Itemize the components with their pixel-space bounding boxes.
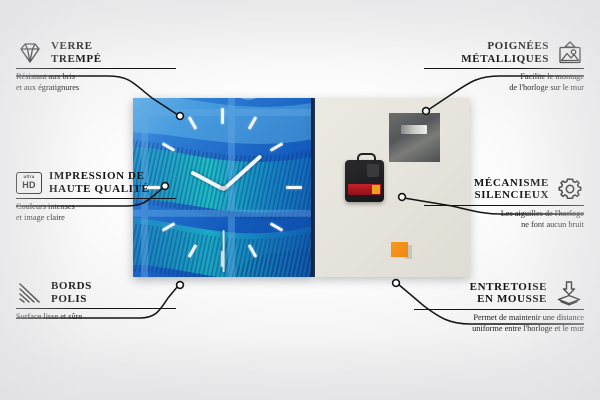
callout-title: POIGNÉES MÉTALLIQUES [461,40,549,65]
second-hand [223,230,225,272]
callout-rule [16,68,176,69]
metal-hanger-plate [389,113,440,162]
callout-impression-haute-qualite[interactable]: ultra HD IMPRESSION DE HAUTE QUALITÉ Cou… [16,170,176,223]
callout-header: MÉCANISME SILENCIEUX [424,176,584,202]
callout-description: Couleurs intenses et image claire [16,202,176,222]
callout-bords-polis[interactable]: BORDS POLIS Surface lisse et sûre [16,280,176,323]
callout-description: Facilite le montage de l'horloge sur le … [424,72,584,92]
callout-description: Les aiguilles de l'horloge ne font aucun… [424,209,584,229]
callout-title: BORDS POLIS [51,280,92,305]
callout-header: VERRE TREMPÉ [16,40,176,65]
battery [348,184,381,195]
press-down-icon [554,280,584,306]
ultra-hd-icon: ultra HD [16,172,42,194]
callout-title: VERRE TREMPÉ [51,40,102,65]
hour-tick [286,186,302,189]
callout-poignees-metalliques[interactable]: POIGNÉES MÉTALLIQUES Facilite le montage… [424,40,584,93]
callout-entretoise-en-mousse[interactable]: ENTRETOISE EN MOUSSE Permet de maintenir… [414,280,584,334]
callout-description: Résistant aux bris et aux égratignures [16,72,176,92]
callout-title: ENTRETOISE EN MOUSSE [470,281,547,306]
callout-header: POIGNÉES MÉTALLIQUES [424,40,584,65]
callout-title: MÉCANISME SILENCIEUX [474,177,549,202]
infographic-canvas: VERRE TREMPÉ Résistant aux bris et aux é… [0,0,600,400]
callout-header: BORDS POLIS [16,280,176,305]
callout-rule [424,205,584,206]
foam-spacer [391,242,408,257]
quartz-movement [345,160,384,202]
callout-rule [414,309,584,310]
callout-verre-trempe[interactable]: VERRE TREMPÉ Résistant aux bris et aux é… [16,40,176,93]
movement-hook [357,153,376,164]
callout-rule [424,68,584,69]
diagonal-lines-icon [16,281,44,305]
center-pin [221,186,226,191]
callout-rule [16,308,176,309]
callout-description: Permet de maintenir une distance uniform… [414,313,584,333]
callout-rule [16,198,176,199]
callout-description: Surface lisse et sûre [16,312,176,322]
diamond-icon [16,41,44,65]
callout-title: IMPRESSION DE HAUTE QUALITÉ [49,170,149,195]
hanger-slot [401,125,427,134]
hour-tick [221,108,224,124]
movement-chip [367,164,379,177]
callout-header: ENTRETOISE EN MOUSSE [414,280,584,306]
callout-header: ultra HD IMPRESSION DE HAUTE QUALITÉ [16,170,176,195]
gear-icon [556,176,584,202]
ultra-hd-icon-main: HD [22,181,36,190]
battery-terminal [372,185,380,194]
callout-mecanisme-silencieux[interactable]: MÉCANISME SILENCIEUX Les aiguilles de l'… [424,176,584,230]
product-image [133,98,470,284]
framed-picture-icon [556,41,584,65]
